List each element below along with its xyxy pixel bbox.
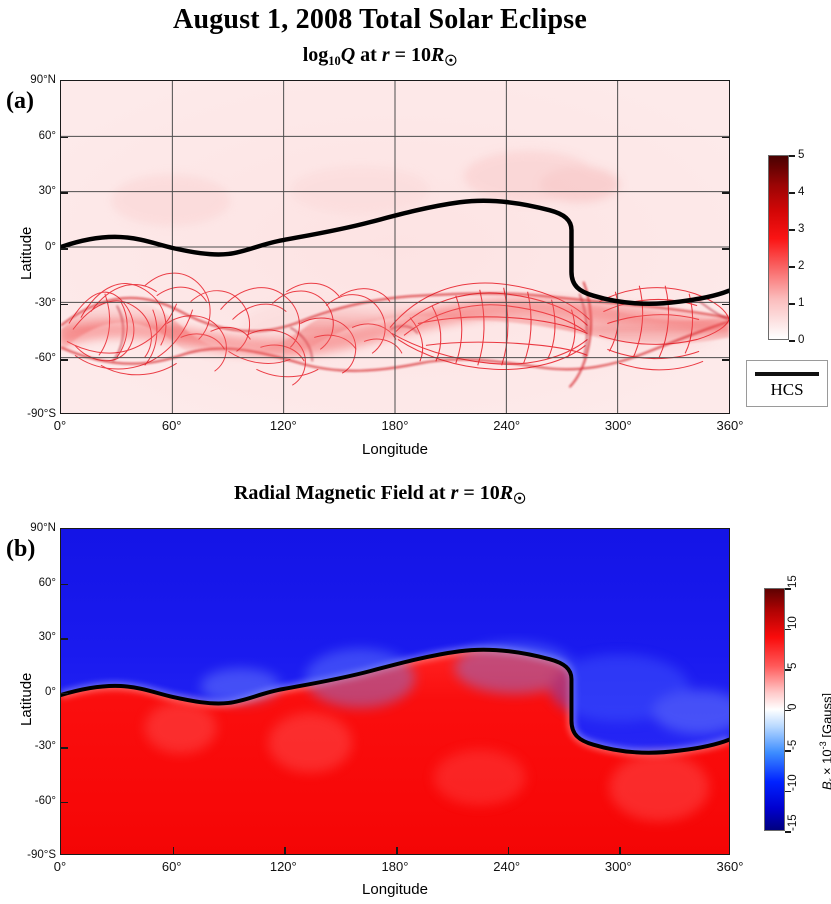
panel-b-label: (b) bbox=[6, 536, 35, 563]
panel-b-colorbar-ticks: 15 10 5 0 -5 -10 -15 bbox=[764, 588, 785, 831]
panel-a-xaxis-title: Longitude bbox=[60, 441, 730, 458]
panel-a-ylabel-4: -30° bbox=[2, 297, 56, 309]
panel-b-ylabel-5: -60° bbox=[2, 795, 56, 807]
cbar-b-title-unit: [Gauss] bbox=[819, 693, 831, 741]
panel-a-ytick-right-60n bbox=[722, 137, 729, 139]
cbar-a-label-3: 3 bbox=[798, 223, 804, 235]
cbar-a-label-5: 5 bbox=[798, 149, 804, 161]
panel-b-xlabel-4: 240° bbox=[477, 859, 537, 874]
panel-b-ytick-60s bbox=[61, 802, 68, 804]
panel-b-ylabel-2: 30° bbox=[2, 631, 56, 643]
panel-b-xlabel-5: 300° bbox=[588, 859, 648, 874]
panel-a-squashing-factor-map bbox=[61, 81, 729, 413]
panel-a-xlabel-5: 300° bbox=[588, 418, 648, 433]
hcs-legend-label: HCS bbox=[747, 380, 827, 400]
cbar-a-mark-1 bbox=[789, 303, 795, 305]
panel-a-colorbar-ticks: 5 4 3 2 1 0 bbox=[768, 155, 789, 340]
panel-b-title-eq: = 10 bbox=[458, 482, 499, 504]
panel-a-ylabel-0: 90°N bbox=[2, 74, 56, 86]
panel-a-ytick-60s bbox=[61, 359, 68, 361]
cbar-a-label-2: 2 bbox=[798, 260, 804, 272]
sun-symbol-icon: ☉ bbox=[444, 53, 457, 69]
panel-b-ylabel-1: 60° bbox=[2, 577, 56, 589]
panel-b-xtick-300 bbox=[619, 847, 621, 854]
panel-a-title-q: Q bbox=[341, 44, 355, 66]
cbar-b-mark-15 bbox=[785, 588, 791, 590]
panel-b-xlabel-6: 360° bbox=[700, 859, 760, 874]
panel-a-title-sub: 10 bbox=[328, 54, 340, 68]
panel-a-title-r: r bbox=[382, 44, 390, 66]
panel-a-xlabel-1: 60° bbox=[142, 418, 202, 433]
cbar-a-mark-5 bbox=[789, 155, 795, 157]
panel-a-title-eq: = 10 bbox=[390, 44, 431, 66]
panel-a-label: (a) bbox=[6, 88, 34, 115]
cbar-a-mark-3 bbox=[789, 229, 795, 231]
panel-b-ytick-30n bbox=[61, 638, 68, 640]
panel-a-ytick-right-30n bbox=[722, 192, 729, 194]
panel-b-xtick-180 bbox=[396, 847, 398, 854]
panel-b-xlabel-2: 120° bbox=[253, 859, 313, 874]
cbar-b-mark-m5 bbox=[785, 750, 791, 752]
hcs-legend-box: HCS bbox=[746, 360, 828, 407]
panel-b-xtick-240 bbox=[508, 847, 510, 854]
figure-main-title: August 1, 2008 Total Solar Eclipse bbox=[0, 4, 760, 36]
cbar-b-label-m5: -5 bbox=[787, 740, 799, 750]
sun-symbol-icon: ☉ bbox=[513, 491, 526, 507]
panel-b-title: Radial Magnetic Field at r = 10R☉ bbox=[0, 482, 760, 508]
cbar-b-label-10: 10 bbox=[787, 616, 799, 629]
panel-b-title-text: Radial Magnetic Field at bbox=[234, 482, 451, 504]
panel-b-xaxis-title: Longitude bbox=[60, 881, 730, 898]
panel-a-xlabel-6: 360° bbox=[700, 418, 760, 433]
panel-a-title: log10Q at r = 10R☉ bbox=[0, 44, 760, 70]
panel-b-ytick-30s bbox=[61, 747, 68, 749]
panel-a-title-mid: at bbox=[355, 44, 382, 66]
panel-a-ytick-30s bbox=[61, 304, 68, 306]
cbar-b-label-5: 5 bbox=[787, 663, 799, 669]
panel-a-title-log: log bbox=[303, 44, 329, 66]
panel-b-ylabel-0: 90°N bbox=[2, 522, 56, 534]
panel-b-title-rsun: R bbox=[500, 482, 513, 504]
panel-a-ylabel-5: -60° bbox=[2, 352, 56, 364]
panel-b-radial-field-map bbox=[61, 529, 729, 854]
cbar-b-title-b: B bbox=[819, 781, 831, 790]
panel-a-ytick-0 bbox=[61, 248, 68, 250]
cbar-b-title-exp: -3 bbox=[818, 741, 828, 749]
panel-a-ytick-60n bbox=[61, 137, 68, 139]
panel-a-ylabel-1: 60° bbox=[2, 130, 56, 142]
panel-a-ytick-right-0 bbox=[722, 248, 729, 250]
panel-a-title-rsun: R bbox=[431, 44, 444, 66]
panel-b-xlabel-1: 60° bbox=[142, 859, 202, 874]
panel-a-yaxis-title: Latitude bbox=[18, 227, 35, 280]
panel-b-yaxis-title: Latitude bbox=[18, 673, 35, 726]
panel-a-ylabel-2: 30° bbox=[2, 185, 56, 197]
cbar-a-mark-4 bbox=[789, 192, 795, 194]
cbar-b-label-m15: -15 bbox=[787, 814, 799, 831]
cbar-a-mark-2 bbox=[789, 266, 795, 268]
panel-a-xlabel-2: 120° bbox=[253, 418, 313, 433]
cbar-b-title-rest: × 10 bbox=[819, 749, 831, 778]
panel-a-ytick-right-60s bbox=[722, 359, 729, 361]
panel-b-ylabel-4: -30° bbox=[2, 740, 56, 752]
panel-b-colorbar-title: Br × 10-3 [Gauss] bbox=[818, 693, 831, 790]
cbar-a-label-4: 4 bbox=[798, 186, 804, 198]
cbar-b-title-sub: r bbox=[827, 779, 831, 782]
cbar-b-label-0: 0 bbox=[787, 703, 799, 709]
panel-a-xlabel-4: 240° bbox=[477, 418, 537, 433]
cbar-b-mark-m15 bbox=[785, 831, 791, 833]
panel-a-xlabel-3: 180° bbox=[365, 418, 425, 433]
cbar-a-label-0: 0 bbox=[798, 334, 804, 346]
panel-a-xlabel-0: 0° bbox=[30, 418, 90, 433]
cbar-b-label-15: 15 bbox=[787, 575, 799, 588]
panel-b-xtick-60 bbox=[173, 847, 175, 854]
figure-root: August 1, 2008 Total Solar Eclipse log10… bbox=[0, 0, 831, 904]
cbar-b-mark-5 bbox=[785, 669, 791, 671]
panel-a-plot-area bbox=[60, 80, 730, 414]
panel-b-xlabel-3: 180° bbox=[365, 859, 425, 874]
panel-b-ytick-60n bbox=[61, 584, 68, 586]
panel-b-xtick-120 bbox=[284, 847, 286, 854]
hcs-legend-line-icon bbox=[755, 372, 819, 376]
panel-b-ytick-0 bbox=[61, 693, 68, 695]
panel-b-plot-area bbox=[60, 528, 730, 855]
cbar-a-label-1: 1 bbox=[798, 297, 804, 309]
cbar-a-mark-0 bbox=[789, 340, 795, 342]
panel-a-ytick-30n bbox=[61, 192, 68, 194]
panel-b-xlabel-0: 0° bbox=[30, 859, 90, 874]
panel-a-ytick-right-30s bbox=[722, 304, 729, 306]
cbar-b-label-m10: -10 bbox=[787, 774, 799, 791]
